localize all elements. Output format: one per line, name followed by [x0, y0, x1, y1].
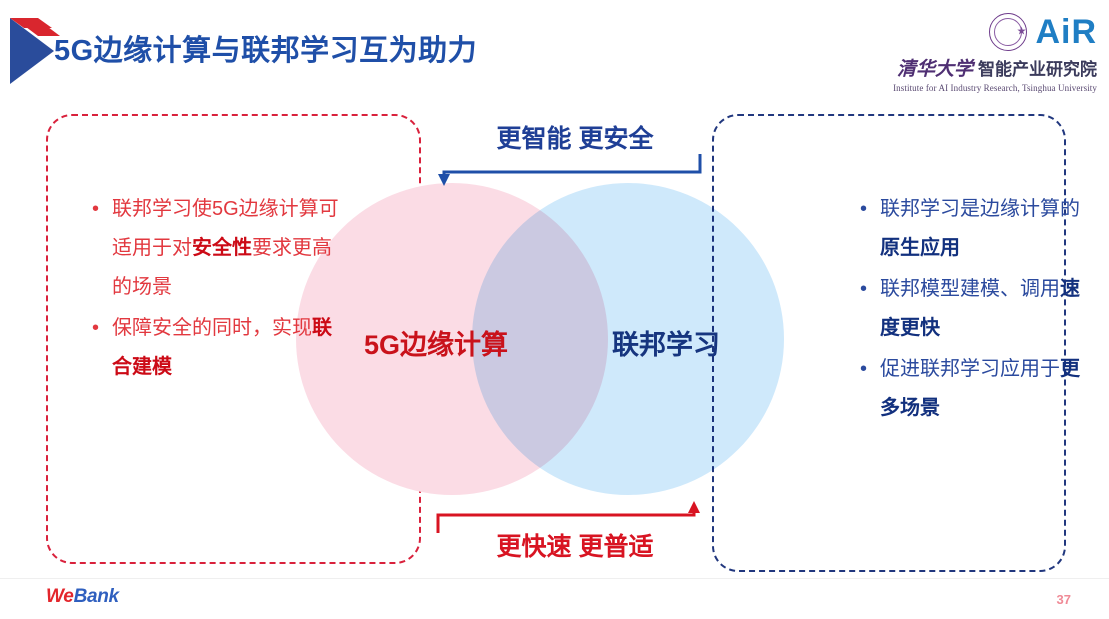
tsinghua-chinese-name: 清华大学: [897, 54, 973, 81]
top-connector-label: 更智能 更安全: [455, 119, 695, 155]
page-title: 5G边缘计算与联邦学习互为助力: [54, 27, 477, 69]
webank-logo: WeBank: [46, 586, 119, 608]
bullet-text: 保障安全的同时，实现: [112, 317, 312, 339]
air-wordmark: AiR: [1035, 15, 1097, 49]
left-bullet-item: 联邦学习使5G边缘计算可适用于对安全性要求更高的场景: [90, 190, 340, 307]
right-bullet-list: 联邦学习是边缘计算的原生应用联邦模型建模、调用速度更快促进联邦学习应用于更多场景: [858, 190, 1088, 430]
venn-label-edge-computing: 5G边缘计算: [364, 323, 508, 362]
right-bullet-item: 联邦学习是边缘计算的原生应用: [858, 190, 1088, 268]
arrow-up-right-icon: [434, 501, 704, 535]
arrow-down-left-icon: [434, 152, 704, 186]
air-institute-logo: AiR 清华大学 智能产业研究院 Institute for AI Indust…: [879, 12, 1097, 94]
bullet-emphasis: 安全性: [192, 237, 252, 259]
left-bullet-list: 联邦学习使5G边缘计算可适用于对安全性要求更高的场景保障安全的同时，实现联合建模: [90, 190, 340, 389]
air-chinese-name: 智能产业研究院: [978, 55, 1097, 80]
slide-canvas: 5G边缘计算与联邦学习互为助力 AiR 清华大学 智能产业研究院 Institu…: [0, 0, 1109, 619]
chevron-arrow-logo: [8, 16, 60, 86]
webank-logo-we: We: [46, 586, 74, 607]
venn-diagram: 5G边缘计算 联邦学习: [296, 183, 784, 499]
tsinghua-university-seal-icon: [989, 13, 1027, 51]
bullet-text: 促进联邦学习应用于: [880, 358, 1060, 380]
left-bullet-item: 保障安全的同时，实现联合建模: [90, 309, 340, 387]
webank-logo-bank: Bank: [74, 586, 119, 607]
bullet-text: 联邦模型建模、调用: [880, 278, 1060, 300]
bullet-emphasis: 原生应用: [880, 237, 960, 259]
slide-header: 5G边缘计算与联邦学习互为助力 AiR 清华大学 智能产业研究院 Institu…: [0, 0, 1109, 100]
bullet-text: 联邦学习是边缘计算的: [880, 198, 1080, 220]
air-english-name: Institute for AI Industry Research, Tsin…: [879, 83, 1097, 93]
right-bullet-item: 促进联邦学习应用于更多场景: [858, 350, 1088, 428]
page-number: 37: [1057, 592, 1071, 607]
footer-divider: [0, 578, 1109, 579]
venn-label-federated-learning: 联邦学习: [612, 323, 720, 362]
right-bullet-item: 联邦模型建模、调用速度更快: [858, 270, 1088, 348]
